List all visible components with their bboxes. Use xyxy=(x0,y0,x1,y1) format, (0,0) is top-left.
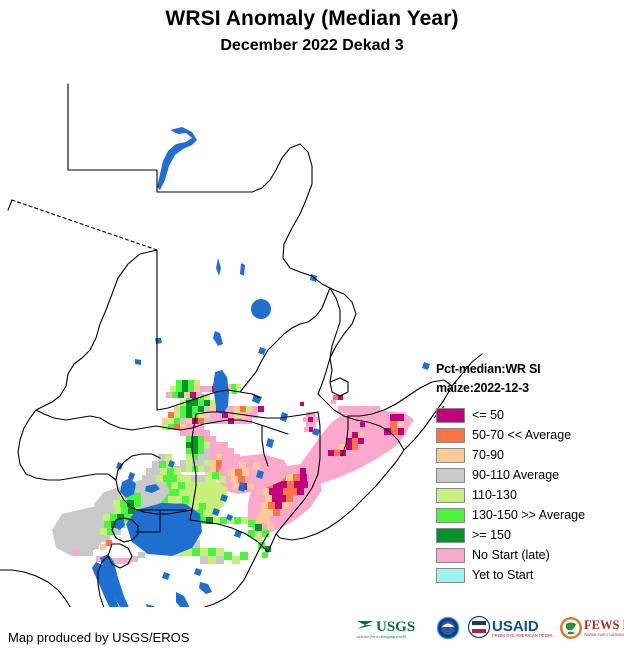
legend-heading-line2: maize:2022-12-3 xyxy=(436,379,622,398)
usaid-logo: USAID FROM THE AMERICAN PEOPLE xyxy=(467,615,553,641)
legend-heading-line1: Pct-median:WR SI xyxy=(436,360,622,379)
legend-label: Yet to Start xyxy=(472,568,533,582)
title-block: WRSI Anomaly (Median Year) December 2022… xyxy=(0,6,624,57)
credit-text: Map produced by USGS/EROS xyxy=(8,630,189,645)
legend-panel: Pct-median:WR SI maize:2022-12-3 <= 5050… xyxy=(436,360,622,585)
page-subtitle: December 2022 Dekad 3 xyxy=(0,35,624,57)
legend-row: >= 150 xyxy=(436,525,622,545)
legend-swatch xyxy=(436,468,465,483)
legend-swatch xyxy=(436,428,465,443)
legend-swatch xyxy=(436,408,465,423)
svg-text:USGS: USGS xyxy=(376,619,415,635)
legend-row: 110-130 xyxy=(436,485,622,505)
legend-row: No Start (late) xyxy=(436,545,622,565)
legend-row: Yet to Start xyxy=(436,565,622,585)
legend-row: 90-110 Average xyxy=(436,465,622,485)
legend-swatch xyxy=(436,548,465,563)
legend-label: 90-110 Average xyxy=(472,468,559,482)
svg-text:science for a changing world: science for a changing world xyxy=(357,634,407,639)
legend-swatch xyxy=(436,528,465,543)
svg-text:FAMINE EARLY WARNING SYSTEMS N: FAMINE EARLY WARNING SYSTEMS NETWORK xyxy=(584,633,624,637)
logo-bar: USGS science for a changing world USAID … xyxy=(355,612,621,644)
legend-items: <= 5050-70 << Average70-9090-110 Average… xyxy=(436,405,622,585)
legend-label: 110-130 xyxy=(472,488,517,502)
legend-label: >= 150 xyxy=(472,528,511,542)
legend-label: 130-150 >> Average xyxy=(472,508,585,522)
noaa-logo xyxy=(435,615,461,641)
legend-row: <= 50 xyxy=(436,405,622,425)
svg-text:FEWS NET: FEWS NET xyxy=(584,618,624,632)
legend-label: 70-90 xyxy=(472,448,504,462)
legend-row: 50-70 << Average xyxy=(436,425,622,445)
page-title: WRSI Anomaly (Median Year) xyxy=(0,6,624,32)
legend-swatch xyxy=(436,488,465,503)
fewsnet-logo: FEWS NET FAMINE EARLY WARNING SYSTEMS NE… xyxy=(559,615,624,641)
legend-label: No Start (late) xyxy=(472,548,550,562)
legend-swatch xyxy=(436,448,465,463)
usgs-logo: USGS science for a changing world xyxy=(355,615,429,641)
legend-swatch xyxy=(436,568,465,583)
legend-label: 50-70 << Average xyxy=(472,428,571,442)
legend-row: 70-90 xyxy=(436,445,622,465)
svg-text:FROM THE AMERICAN PEOPLE: FROM THE AMERICAN PEOPLE xyxy=(492,633,553,638)
legend-label: <= 50 xyxy=(472,408,504,422)
legend-row: 130-150 >> Average xyxy=(436,505,622,525)
legend-swatch xyxy=(436,508,465,523)
